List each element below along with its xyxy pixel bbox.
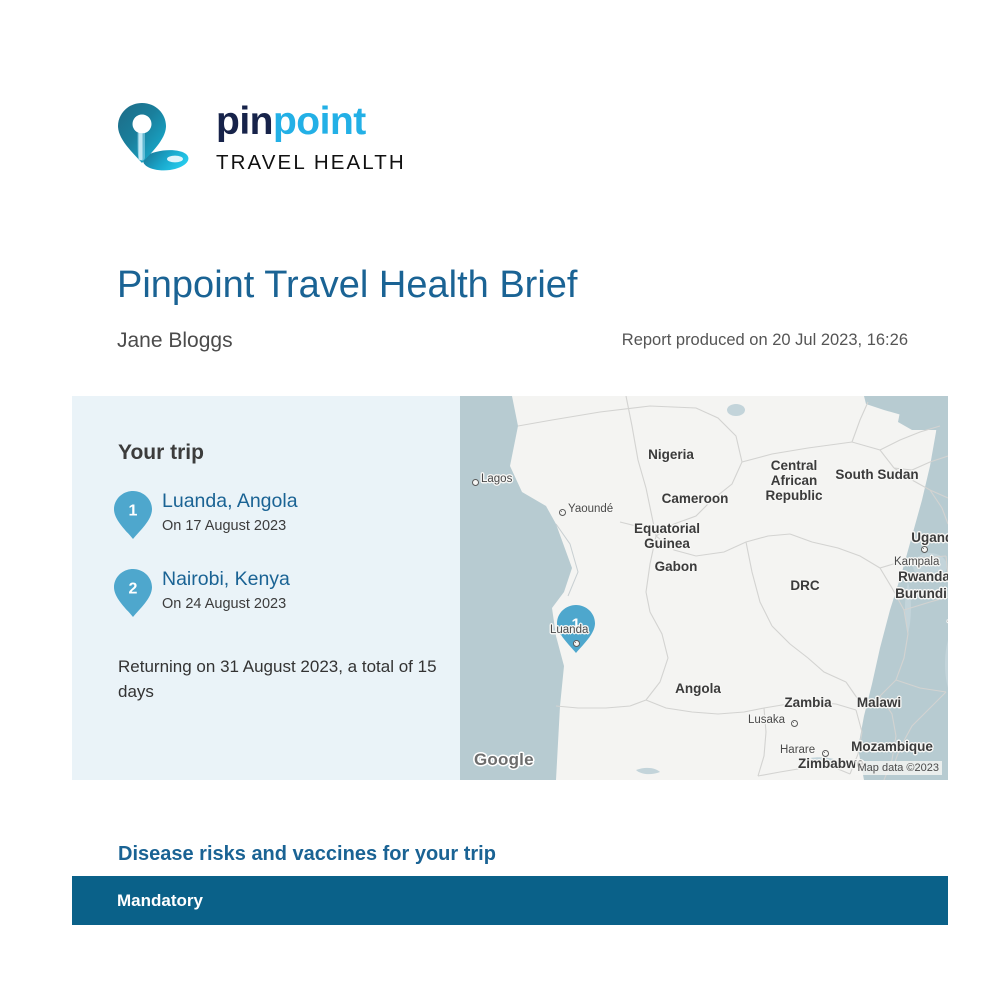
map-country-label: South Sudan bbox=[835, 467, 918, 482]
map-city-label: Harare bbox=[780, 744, 815, 756]
map-country-label: Nigeria bbox=[648, 447, 694, 462]
trip-return-note: Returning on 31 August 2023, a total of … bbox=[118, 654, 438, 704]
map-country-label: Gabon bbox=[655, 559, 698, 574]
map-country-label: Burundi bbox=[895, 586, 947, 601]
map-city-label: Yaoundé bbox=[568, 503, 613, 515]
brand-tagline: TRAVEL HEALTH bbox=[216, 150, 406, 176]
pin-drop-logo-icon bbox=[112, 100, 196, 184]
stop-date: On 24 August 2023 bbox=[162, 593, 290, 615]
map-city-dot bbox=[573, 640, 580, 647]
trip-stop-list: 1 Luanda, Angola On 17 August 2023 2 Nai… bbox=[112, 488, 442, 644]
map-country-label: Uganda bbox=[911, 530, 948, 545]
map-country-label: Angola bbox=[675, 681, 721, 696]
stop-city-name: Luanda, Angola bbox=[162, 490, 298, 512]
report-produced-timestamp: Report produced on 20 Jul 2023, 16:26 bbox=[622, 328, 908, 352]
map-country-label: Zambia bbox=[784, 695, 831, 710]
wordmark-point: point bbox=[273, 100, 366, 143]
map-city-dot bbox=[791, 720, 798, 727]
map-city-dot bbox=[472, 479, 479, 486]
list-item[interactable]: 2 Nairobi, Kenya On 24 August 2023 bbox=[112, 566, 442, 644]
google-watermark: Google bbox=[474, 750, 534, 770]
map-city-dot bbox=[559, 509, 566, 516]
map-country-label: DRC bbox=[790, 578, 819, 593]
map-pin-icon: 1 bbox=[112, 490, 154, 540]
disease-risks-heading: Disease risks and vaccines for your trip bbox=[118, 841, 496, 867]
map-country-label: Mozambique bbox=[851, 739, 933, 754]
trip-heading: Your trip bbox=[118, 440, 204, 466]
stop-number-2: 2 bbox=[129, 581, 138, 598]
page-title: Pinpoint Travel Health Brief bbox=[117, 261, 577, 309]
list-item[interactable]: 1 Luanda, Angola On 17 August 2023 bbox=[112, 488, 442, 566]
map-city-label: Lagos bbox=[481, 473, 512, 485]
trip-details: Your trip 1 Luanda, Angola On 17 August … bbox=[72, 396, 460, 780]
mandatory-section-bar[interactable]: Mandatory bbox=[72, 876, 948, 925]
stop-date: On 17 August 2023 bbox=[162, 515, 298, 537]
wordmark-pin: pin bbox=[216, 100, 273, 143]
stop-number-1: 1 bbox=[129, 503, 138, 520]
traveller-name: Jane Bloggs bbox=[117, 327, 233, 355]
map-city-dot bbox=[921, 546, 928, 553]
trip-summary-panel: Your trip 1 Luanda, Angola On 17 August … bbox=[72, 396, 948, 780]
map-country-label: Cameroon bbox=[662, 491, 729, 506]
map-marker-label-luanda: Luanda bbox=[550, 624, 588, 636]
brand-logo: pinpoint TRAVEL HEALTH bbox=[112, 98, 512, 188]
mandatory-label: Mandatory bbox=[117, 890, 203, 912]
map-city-label: Lusaka bbox=[748, 714, 785, 726]
map-country-label: CentralAfricanRepublic bbox=[765, 458, 822, 503]
map-country-label: EquatorialGuinea bbox=[634, 521, 700, 551]
map-city-label: Kampala bbox=[894, 556, 939, 568]
stop-city-name: Nairobi, Kenya bbox=[162, 568, 290, 590]
map-pin-icon: 2 bbox=[112, 568, 154, 618]
map-city-dot bbox=[822, 750, 829, 757]
map-country-label: Malawi bbox=[857, 695, 901, 710]
map-attribution: Map data ©2023 bbox=[855, 761, 943, 775]
brand-wordmark: pinpoint TRAVEL HEALTH bbox=[216, 100, 406, 176]
map-country-label: Rwanda bbox=[898, 569, 948, 584]
trip-map[interactable]: Nigeria Cameroon CentralAfricanRepublic … bbox=[460, 396, 948, 780]
